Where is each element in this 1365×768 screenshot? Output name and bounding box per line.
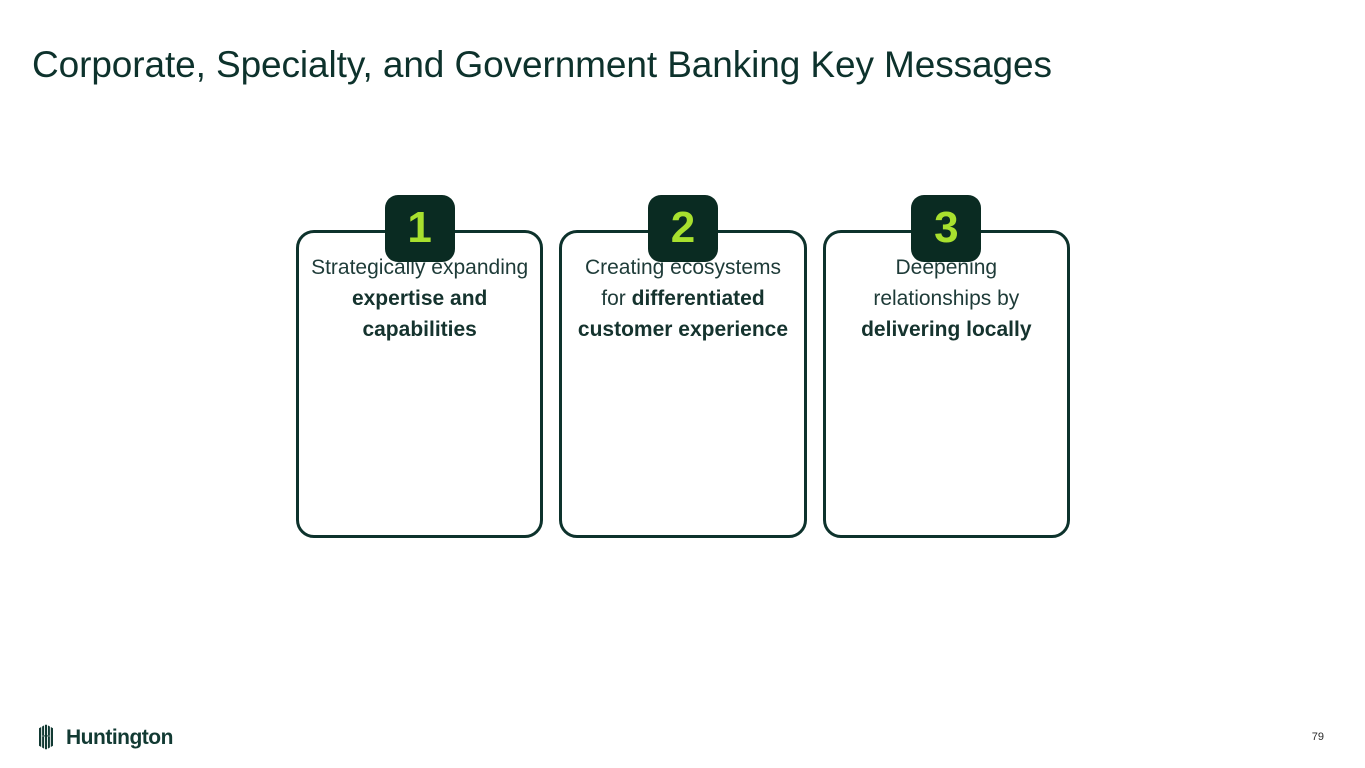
card-message-text-2: Creating ecosystems for differentiated c… (572, 252, 795, 345)
key-message-card-1[interactable]: 1 Strategically expanding expertise and … (296, 195, 543, 540)
brand-wordmark: Huntington (66, 727, 173, 748)
key-messages-card-group: 1 Strategically expanding expertise and … (296, 195, 1070, 540)
card-number-badge-1: 1 (385, 195, 455, 262)
card-message-lead-3: Deepening relationships by (873, 256, 1019, 310)
slide-page-number: 79 (1312, 731, 1324, 743)
card-message-emphasis-1: expertise and capabilities (352, 287, 487, 341)
card-number-badge-2: 2 (648, 195, 718, 262)
card-badge-number-label-1: 1 (407, 206, 431, 252)
huntington-hexagon-icon (33, 724, 59, 750)
brand-logo: Huntington (33, 724, 173, 750)
card-message-emphasis-3: delivering locally (861, 318, 1031, 341)
key-message-card-3[interactable]: 3 Deepening relationships by delivering … (823, 195, 1070, 540)
key-message-card-2[interactable]: 2 Creating ecosystems for differentiated… (559, 195, 806, 540)
card-message-text-1: Strategically expanding expertise and ca… (308, 252, 531, 345)
card-message-text-3: Deepening relationships by delivering lo… (835, 252, 1058, 345)
card-badge-number-label-2: 2 (671, 206, 695, 252)
card-number-badge-3: 3 (911, 195, 981, 262)
card-badge-number-label-3: 3 (934, 206, 958, 252)
page-title: Corporate, Specialty, and Government Ban… (32, 42, 1052, 88)
slide-canvas: Corporate, Specialty, and Government Ban… (0, 0, 1365, 768)
